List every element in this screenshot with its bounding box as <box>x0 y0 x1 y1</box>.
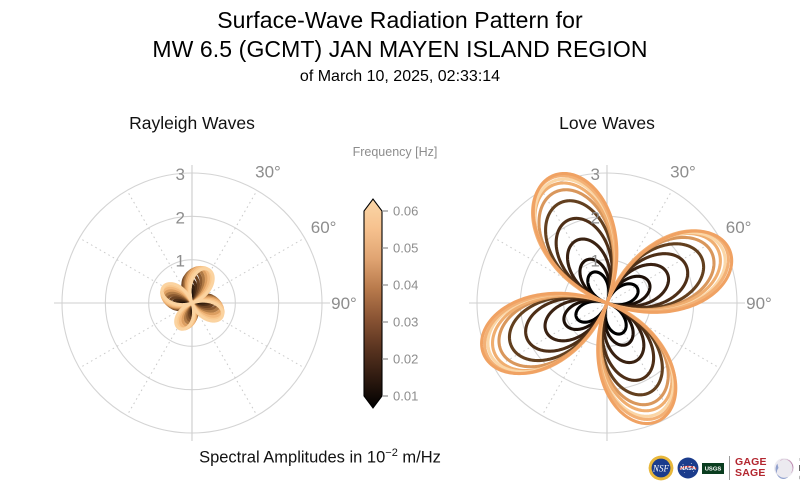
radial-tick-label-2: 2 <box>176 208 185 227</box>
colorbar-tick-label-0.03: 0.03 <box>393 315 418 330</box>
logo-divider <box>729 456 730 480</box>
svg-text:USGS: USGS <box>705 466 722 472</box>
grid-spoke-240 <box>79 303 192 368</box>
angle-tick-label-90: 90° <box>746 294 772 313</box>
footer-suffix: m/Hz <box>398 449 441 467</box>
footer-exponent: −2 <box>385 447 398 459</box>
radial-tick-label-3: 3 <box>591 165 600 184</box>
colorbar: Frequency [Hz] 0.060.050.040.030.020.01 <box>330 145 460 405</box>
radial-tick-label-3: 3 <box>176 165 185 184</box>
nsf-logo: NSF <box>648 455 674 481</box>
svg-text:NSF: NSF <box>652 464 670 474</box>
colorbar-body <box>364 199 382 408</box>
earthscope-icon <box>773 457 795 479</box>
footer-prefix: Spectral Amplitudes in 10 <box>199 449 385 467</box>
sage-label: SAGE <box>735 468 767 479</box>
figure-title: Surface-Wave Radiation Pattern for MW 6.… <box>0 6 800 88</box>
title-line-1: Surface-Wave Radiation Pattern for <box>0 6 800 35</box>
colorbar-title: Frequency [Hz] <box>330 145 460 159</box>
grid-spoke-150 <box>192 303 257 416</box>
love-plot-title: Love Waves <box>487 113 727 134</box>
title-line-2: MW 6.5 (GCMT) JAN MAYEN ISLAND REGION <box>0 35 800 64</box>
title-line-3: of March 10, 2025, 02:33:14 <box>0 66 800 88</box>
gage-sage-logo: GAGE SAGE <box>735 457 767 479</box>
colorbar-tick-label-0.05: 0.05 <box>393 241 418 256</box>
angle-tick-label-30: 30° <box>255 162 281 181</box>
usgs-logo: USGS <box>702 463 724 474</box>
colorbar-tick-label-0.02: 0.02 <box>393 352 418 367</box>
colorbar-tick-label-0.01: 0.01 <box>393 389 418 404</box>
rayleigh-plot-title: Rayleigh Waves <box>72 113 312 134</box>
colorbar-gradient: 0.060.050.040.030.020.01 <box>358 195 458 417</box>
colorbar-tick-label-0.06: 0.06 <box>393 204 418 219</box>
radial-tick-label-2: 2 <box>591 208 600 227</box>
svg-text:NASA: NASA <box>680 466 696 472</box>
angle-tick-label-60: 60° <box>726 218 752 237</box>
figure-canvas: Surface-Wave Radiation Pattern for MW 6.… <box>0 0 800 493</box>
logo-bar: NSF NASA USGS GAGE SAGE Operated by <box>648 450 796 486</box>
colorbar-tick-label-0.04: 0.04 <box>393 278 418 293</box>
nasa-logo: NASA <box>677 457 699 479</box>
radial-tick-label-1: 1 <box>176 252 185 271</box>
radial-tick-label-1: 1 <box>591 252 600 271</box>
rayleigh-polar-plot: 12330°60°90° <box>57 168 327 438</box>
love-polar-plot: 12330°60°90° <box>472 168 742 438</box>
angle-tick-label-30: 30° <box>670 162 696 181</box>
footer-caption: Spectral Amplitudes in 10−2 m/Hz <box>0 447 640 468</box>
